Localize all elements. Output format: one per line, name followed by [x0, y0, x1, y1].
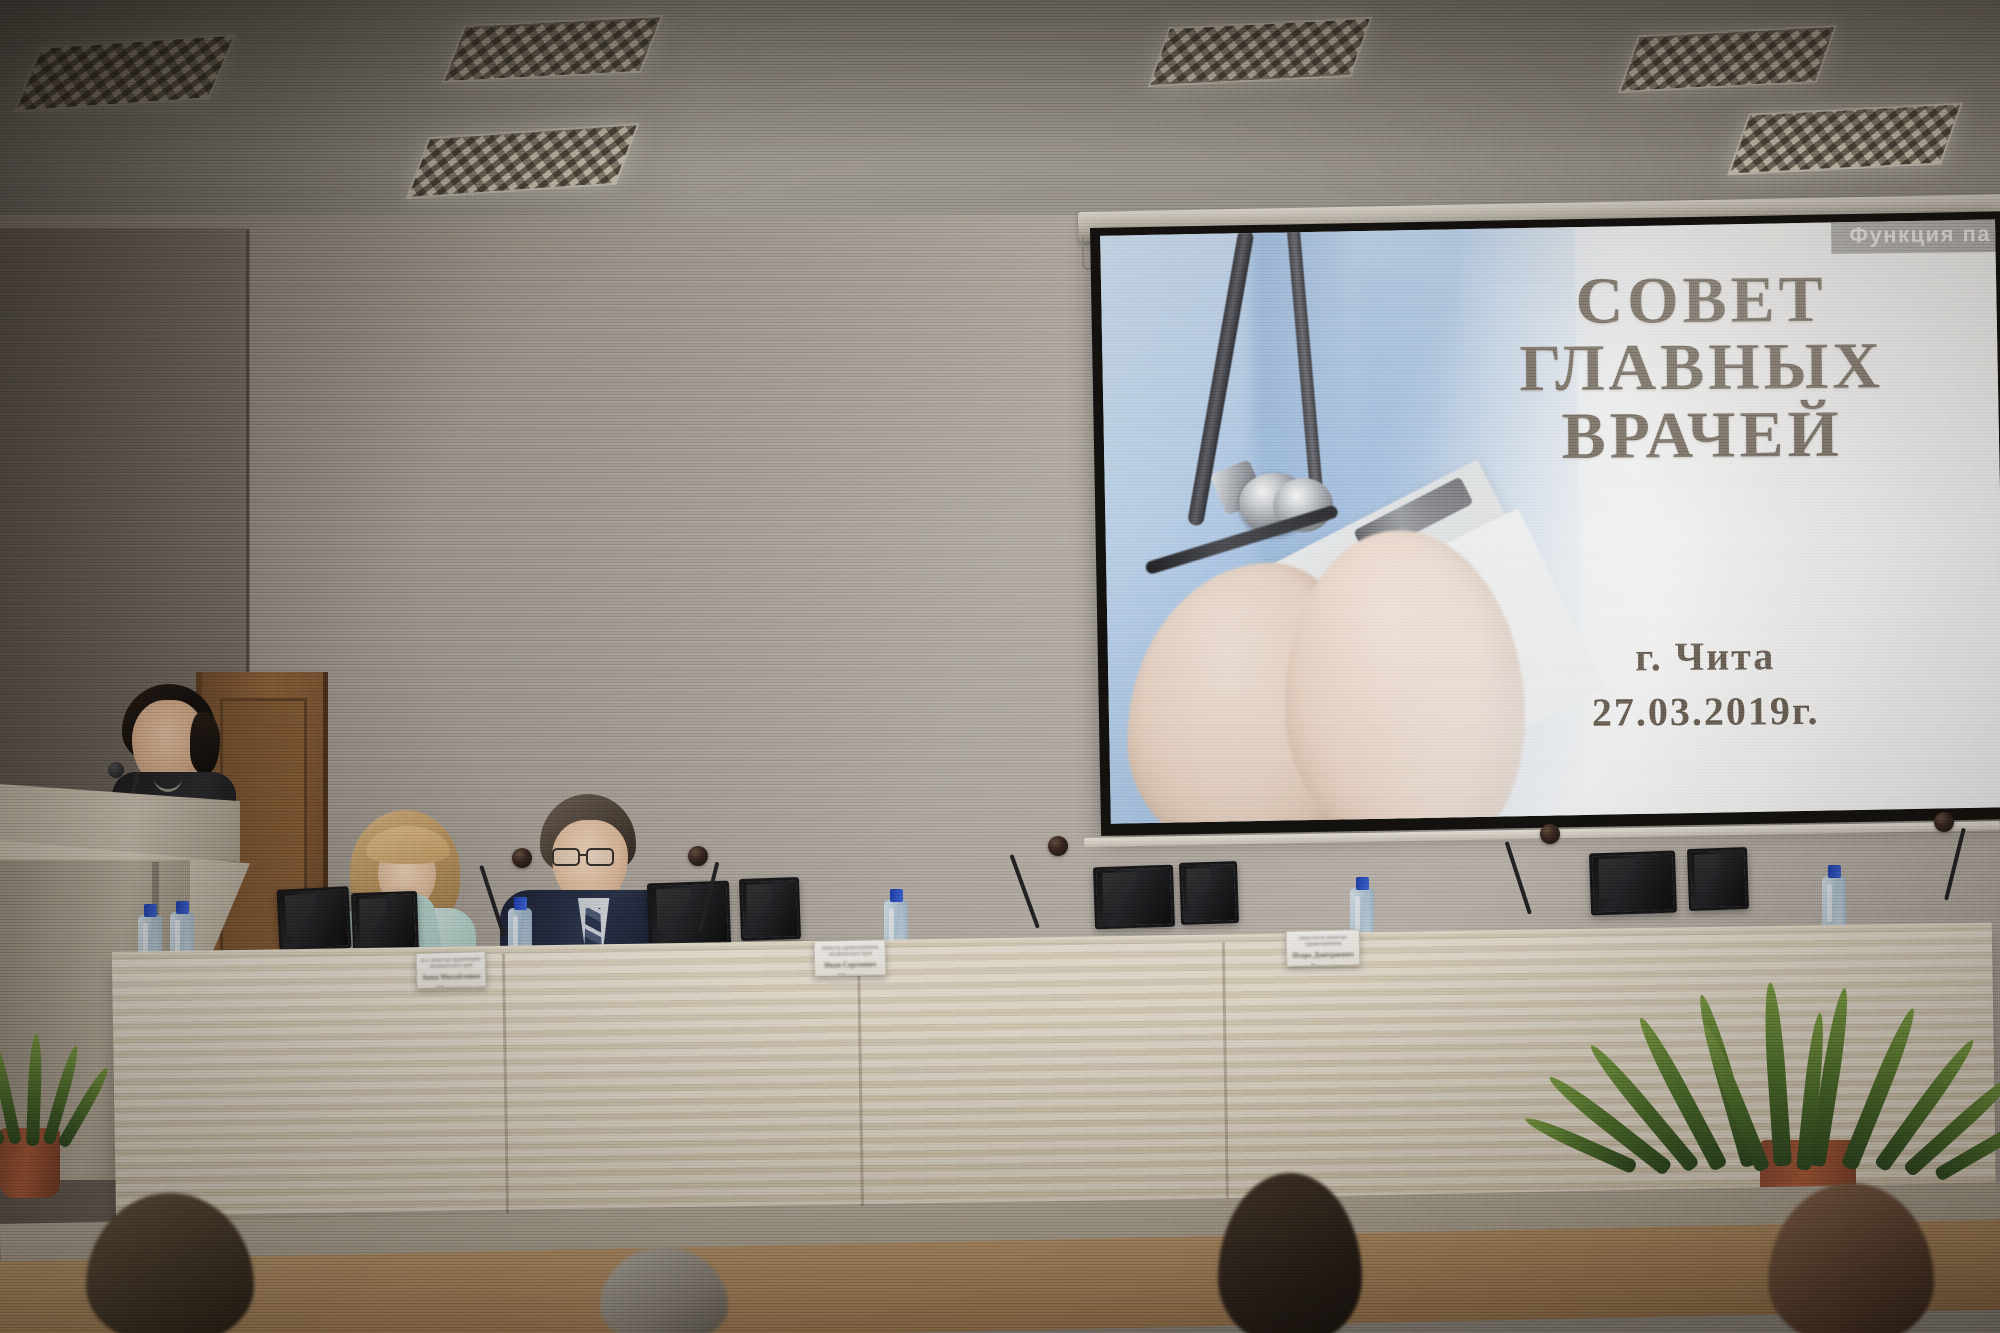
- microphone-icon[interactable]: [1048, 836, 1068, 856]
- monitor[interactable]: [647, 881, 731, 948]
- placard-line-2: Забайкальского края: [421, 963, 481, 971]
- slide-title-line-3: ВРАЧЕЙ: [1422, 399, 1983, 471]
- slide-place-date: г. Чита 27.03.2019г.: [1445, 627, 1966, 741]
- slide-title: СОВЕТ ГЛАВНЫХ ВРАЧЕЙ: [1421, 265, 1983, 471]
- microphone-icon[interactable]: [1934, 812, 1954, 832]
- glasses-icon: [552, 848, 580, 866]
- monitor[interactable]: [276, 886, 351, 952]
- microphone-icon[interactable]: [512, 848, 532, 868]
- projected-slide: Функция па СОВЕТ ГЛАВНЫХ ВРАЧЕЙ г. Чита …: [1100, 219, 2000, 823]
- placard-line-2: Забайкальского края: [819, 951, 881, 958]
- placard-line-2: здравоохранения: [1291, 941, 1355, 948]
- name-placard: И.о. министра здравоохранения Забайкальс…: [416, 951, 487, 989]
- slide-date: 27.03.2019г.: [1445, 682, 1965, 741]
- monitor[interactable]: [1589, 851, 1677, 916]
- name-placard: Министр здравоохранения Забайкальского к…: [814, 939, 887, 977]
- placard-name: Иван Сергеевич: [819, 960, 881, 970]
- glasses-bridge: [578, 854, 588, 856]
- monitor[interactable]: [351, 891, 419, 953]
- microphone-icon[interactable]: [1540, 824, 1560, 844]
- microphone-icon: [108, 762, 124, 778]
- slide-title-line-1: СОВЕТ: [1421, 265, 1982, 337]
- monitor[interactable]: [1093, 865, 1175, 930]
- slide-watermark: Функция па: [1831, 219, 2000, 253]
- projection-screen: Функция па СОВЕТ ГЛАВНЫХ ВРАЧЕЙ г. Чита …: [1090, 211, 2000, 836]
- speaker-hair-side: [190, 712, 220, 774]
- name-placard: Заместитель министра здравоохранения Иго…: [1286, 929, 1361, 967]
- placard-name: Игорь Дмитриевич: [1291, 950, 1355, 960]
- glasses-icon: [586, 848, 614, 866]
- slide-city: г. Чита: [1445, 627, 1965, 686]
- placard-name: Анна Михайловна: [421, 972, 481, 983]
- slide-title-line-2: ГЛАВНЫХ: [1421, 332, 1982, 404]
- monitor[interactable]: [1687, 847, 1749, 911]
- microphone-icon[interactable]: [688, 846, 708, 866]
- monitor[interactable]: [739, 877, 801, 941]
- monitor[interactable]: [1179, 861, 1239, 925]
- conference-hall-photo: Функция па СОВЕТ ГЛАВНЫХ ВРАЧЕЙ г. Чита …: [0, 0, 2000, 1333]
